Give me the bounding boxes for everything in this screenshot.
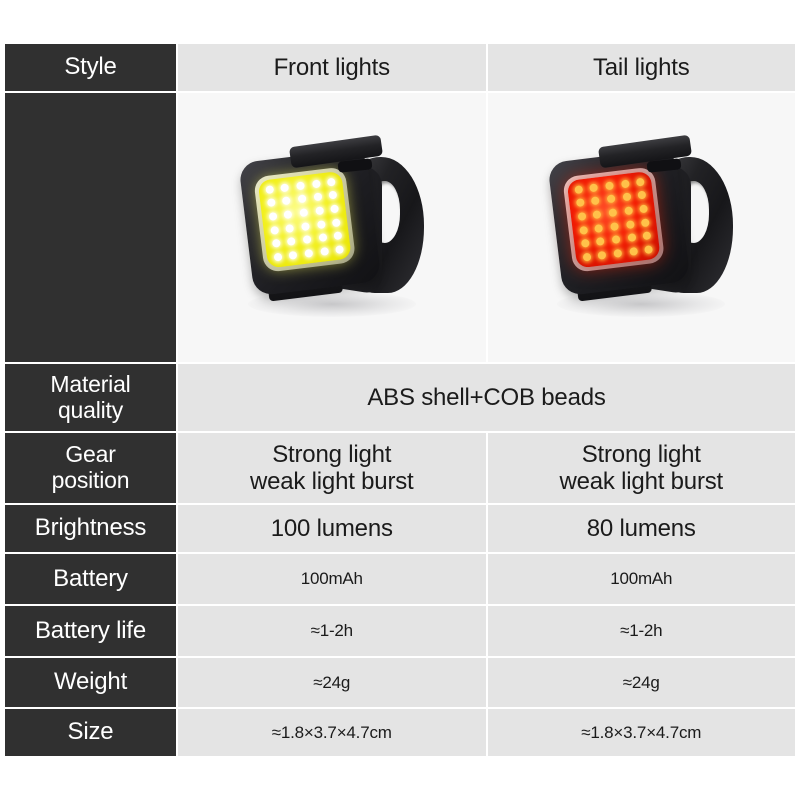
value-battery-life-front: ≈1-2h xyxy=(178,606,486,656)
tail-light-image-cell xyxy=(488,93,796,362)
value-battery-life-tail: ≈1-2h xyxy=(488,606,796,656)
value-line1: Strong light xyxy=(582,441,701,468)
header-front-lights: Front lights xyxy=(178,44,486,91)
row-label-size: Size xyxy=(5,709,176,756)
row-label-line1: Material xyxy=(50,371,130,397)
led-bezel xyxy=(253,166,356,272)
front-light-image-cell xyxy=(178,93,486,362)
row-label-line1: Gear xyxy=(65,441,115,467)
spec-comparison-table: Style Front lights Tail lights xyxy=(5,44,795,757)
value-gear-position-front: Strong light weak light burst xyxy=(178,433,486,503)
row-label-line2: position xyxy=(52,467,130,493)
row-label-material-quality: Material quality xyxy=(5,364,176,431)
row-label-brightness: Brightness xyxy=(5,505,176,552)
front-light-illustration xyxy=(178,93,486,362)
value-line2: weak light burst xyxy=(559,468,723,495)
table-row-size: Size ≈1.8×3.7×4.7cm ≈1.8×3.7×4.7cm xyxy=(5,709,795,756)
row-label-weight: Weight xyxy=(5,658,176,707)
value-size-front: ≈1.8×3.7×4.7cm xyxy=(178,709,486,756)
tail-light-illustration xyxy=(488,93,796,362)
value-brightness-tail: 80 lumens xyxy=(488,505,796,552)
value-battery-front: 100mAh xyxy=(178,554,486,604)
value-gear-position-tail: Strong light weak light burst xyxy=(488,433,796,503)
value-size-tail: ≈1.8×3.7×4.7cm xyxy=(488,709,796,756)
product-image-row xyxy=(5,93,795,362)
table-row-material-quality: Material quality ABS shell+COB beads xyxy=(5,364,795,431)
tail-led-panel xyxy=(567,170,661,268)
led-bezel xyxy=(562,166,665,272)
table-row-weight: Weight ≈24g ≈24g xyxy=(5,658,795,707)
table-row-battery-life: Battery life ≈1-2h ≈1-2h xyxy=(5,606,795,656)
header-tail-lights: Tail lights xyxy=(488,44,796,91)
media-row-label-spacer xyxy=(5,93,176,362)
header-label-style: Style xyxy=(5,44,176,91)
row-label-battery: Battery xyxy=(5,554,176,604)
value-weight-front: ≈24g xyxy=(178,658,486,707)
table-header-row: Style Front lights Tail lights xyxy=(5,44,795,91)
table-row-brightness: Brightness 100 lumens 80 lumens xyxy=(5,505,795,552)
value-line2: weak light burst xyxy=(250,468,414,495)
value-brightness-front: 100 lumens xyxy=(178,505,486,552)
row-label-battery-life: Battery life xyxy=(5,606,176,656)
row-label-gear-position: Gear position xyxy=(5,433,176,503)
value-material-quality-merged: ABS shell+COB beads xyxy=(178,364,795,431)
value-battery-tail: 100mAh xyxy=(488,554,796,604)
front-led-panel xyxy=(257,170,351,268)
value-line1: Strong light xyxy=(272,441,391,468)
row-label-line2: quality xyxy=(58,397,123,423)
table-row-gear-position: Gear position Strong light weak light bu… xyxy=(5,433,795,503)
value-weight-tail: ≈24g xyxy=(488,658,796,707)
table-row-battery: Battery 100mAh 100mAh xyxy=(5,554,795,604)
